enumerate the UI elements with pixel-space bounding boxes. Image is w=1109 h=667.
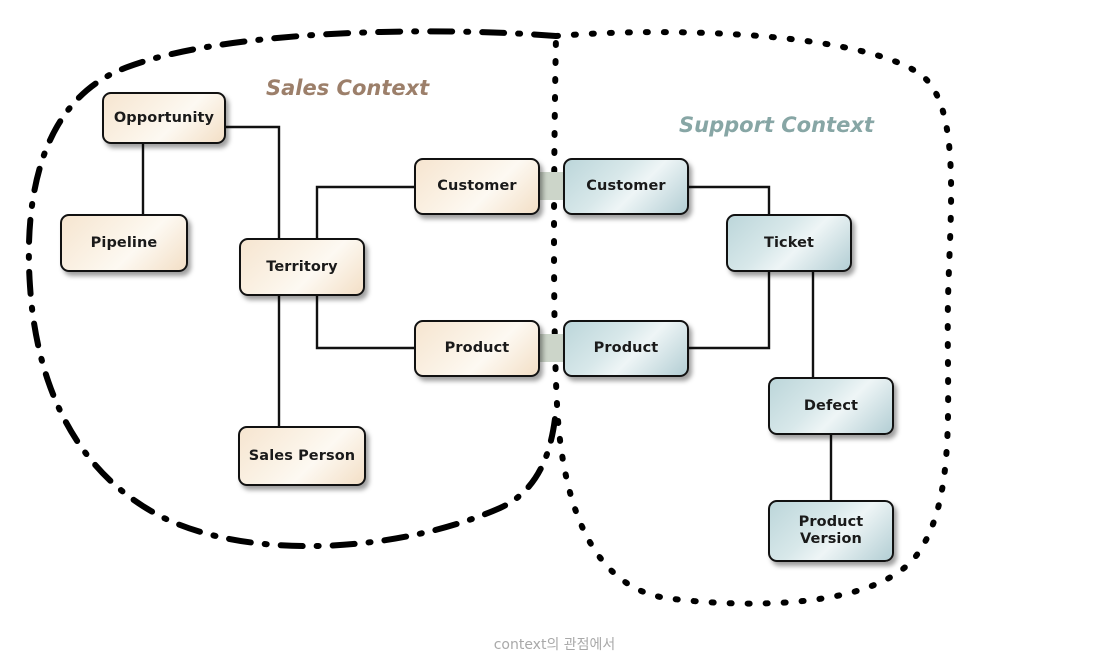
edge-product-ticket (689, 272, 769, 348)
node-opportunity[interactable]: Opportunity (102, 92, 226, 144)
node-defect[interactable]: Defect (768, 377, 894, 435)
node-pipeline[interactable]: Pipeline (60, 214, 188, 272)
edge-territory-customer (317, 187, 414, 238)
node-territory[interactable]: Territory (239, 238, 365, 296)
node-label: Defect (798, 398, 864, 415)
node-label: Pipeline (85, 235, 164, 252)
node-product-version[interactable]: ProductVersion (768, 500, 894, 562)
node-label: Territory (260, 259, 343, 276)
node-label: Product (439, 340, 516, 357)
node-ticket[interactable]: Ticket (726, 214, 852, 272)
diagram-canvas: Opportunity Pipeline Territory Sales Per… (0, 0, 1109, 667)
edge-customer-ticket (689, 187, 769, 214)
node-product-sales[interactable]: Product (414, 320, 540, 377)
node-label: Ticket (758, 235, 820, 252)
node-label: Opportunity (108, 110, 220, 127)
edge-opportunity-territory (226, 127, 279, 238)
edge-territory-product (317, 296, 414, 348)
node-label: Customer (580, 178, 671, 195)
support-context-title: Support Context (679, 113, 874, 137)
node-customer-support[interactable]: Customer (563, 158, 689, 215)
figure-caption: context의 관점에서 (0, 634, 1109, 654)
node-label: Customer (431, 178, 522, 195)
node-customer-sales[interactable]: Customer (414, 158, 540, 215)
sales-context-title: Sales Context (266, 76, 429, 100)
node-sales-person[interactable]: Sales Person (238, 426, 366, 486)
node-product-support[interactable]: Product (563, 320, 689, 377)
node-label: Sales Person (243, 448, 361, 465)
node-label: ProductVersion (793, 514, 870, 547)
node-label: Product (588, 340, 665, 357)
